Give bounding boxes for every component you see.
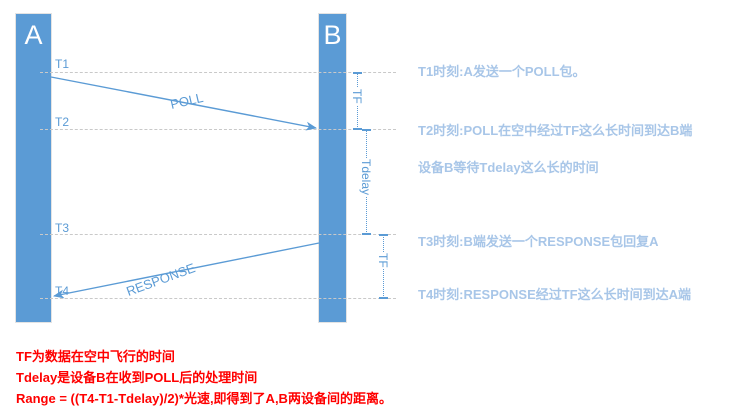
reference-line-t2 (40, 129, 396, 130)
interval-cap-tf-1-bottom (353, 128, 362, 130)
interval-label-tf-1: TF (351, 88, 363, 105)
interval-cap-tf-2-bottom (379, 297, 388, 299)
reference-line-t1 (40, 72, 396, 73)
reference-line-t4 (40, 298, 396, 299)
explanation-line-tdelay: Tdelay是设备B在收到POLL后的处理时间 (16, 367, 392, 388)
twr-sequence-diagram: A B T1 T2 T3 T4 POLL RESPONSE TF Tdela (0, 0, 737, 418)
annotation-t1: T1时刻:A发送一个POLL包。 (418, 65, 586, 78)
annotation-t4: T4时刻:RESPONSE经过TF这么长时间到达A端 (418, 288, 691, 301)
timestamp-label-t1: T1 (55, 58, 69, 70)
device-label-a: A (16, 22, 51, 49)
device-label-b: B (319, 22, 346, 49)
timestamp-label-t2: T2 (55, 116, 69, 128)
annotation-tdelay: 设备B等待Tdelay这么长的时间 (418, 161, 599, 174)
interval-label-tf-2: TF (377, 252, 389, 269)
explanation-line-range: Range = ((T4-T1-Tdelay)/2)*光速,即得到了A,B两设备… (16, 388, 392, 409)
message-label-response: RESPONSE (125, 261, 197, 298)
device-lifeline-a: A (16, 14, 51, 322)
device-lifeline-b: B (319, 14, 346, 322)
interval-cap-tdelay-bottom (362, 233, 371, 235)
interval-label-tdelay: Tdelay (360, 158, 372, 196)
annotation-t3: T3时刻:B端发送一个RESPONSE包回复A (418, 235, 659, 248)
interval-cap-tf-1-top (353, 72, 362, 74)
interval-cap-tdelay-top (362, 129, 371, 131)
timestamp-label-t3: T3 (55, 222, 69, 234)
timestamp-label-t4: T4 (55, 285, 69, 297)
explanation-block: TF为数据在空中飞行的时间 Tdelay是设备B在收到POLL后的处理时间 Ra… (16, 346, 392, 409)
interval-cap-tf-2-top (379, 234, 388, 236)
reference-line-t3 (40, 234, 396, 235)
explanation-line-tf: TF为数据在空中飞行的时间 (16, 346, 392, 367)
message-label-poll: POLL (169, 91, 204, 111)
annotation-t2: T2时刻:POLL在空中经过TF这么长时间到达B端 (418, 124, 692, 137)
